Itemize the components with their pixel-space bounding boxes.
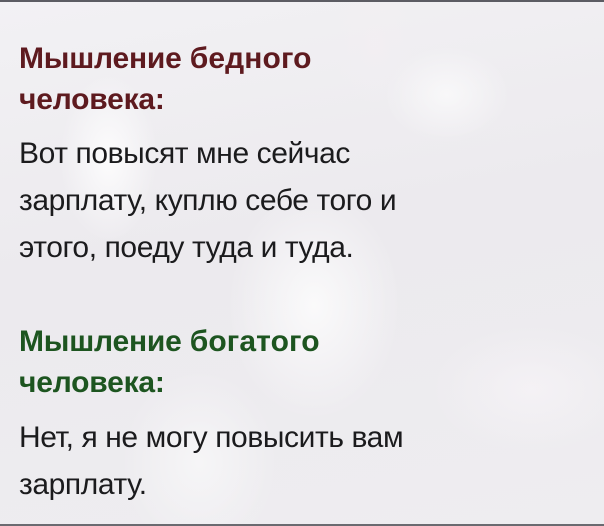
poor-mindset-body: Вот повысят мне сейчасзарплату, куплю се… bbox=[19, 130, 584, 271]
poor-body-line-2: зарплату, куплю себе того и bbox=[19, 184, 396, 217]
poor-body-line-3: этого, поеду туда и туда. bbox=[19, 231, 353, 264]
rich-mindset-block: Мышление богатогочеловека: Нет, я не мог… bbox=[19, 321, 584, 508]
rich-body-line-2: зарплату. bbox=[19, 468, 147, 501]
rich-body-line-1: Нет, я не могу повысить вам bbox=[19, 421, 403, 454]
top-edge-border bbox=[0, 0, 604, 2]
rich-mindset-body: Нет, я не могу повысить вамзарплату. bbox=[19, 414, 584, 508]
rich-mindset-heading: Мышление богатогочеловека: bbox=[19, 321, 584, 403]
poor-mindset-block: Мышление бедногочеловека: Вот повысят мн… bbox=[19, 38, 584, 271]
poor-body-line-1: Вот повысят мне сейчас bbox=[19, 137, 350, 170]
rich-heading-emphasis: богатого bbox=[190, 325, 320, 358]
quote-card-screenshot: Мышление бедногочеловека: Вот повысят мн… bbox=[0, 0, 604, 526]
rich-heading-prefix: Мышление bbox=[19, 325, 190, 358]
rich-heading-line-2: человека: bbox=[19, 366, 165, 399]
poor-heading-line-2: человека: bbox=[19, 83, 165, 116]
poor-mindset-heading: Мышление бедногочеловека: bbox=[19, 38, 584, 120]
card-content: Мышление бедногочеловека: Вот повысят мн… bbox=[0, 0, 604, 508]
poor-heading-emphasis: бедного bbox=[190, 42, 312, 75]
poor-heading-prefix: Мышление bbox=[19, 42, 190, 75]
